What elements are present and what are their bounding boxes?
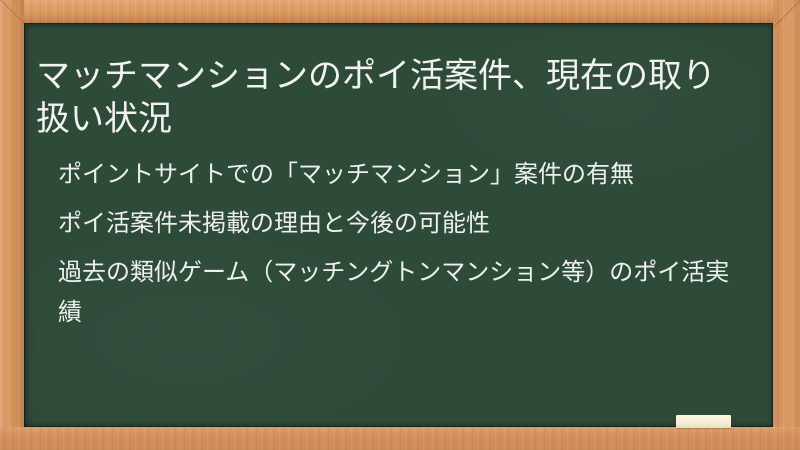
chalkboard-slide: マッチマンションのポイ活案件、現在の取り扱い状況 ポイントサイトでの「マッチマン… bbox=[0, 0, 800, 450]
chalk-ledge bbox=[0, 427, 800, 450]
frame-left bbox=[0, 0, 24, 450]
chalkboard-surface: マッチマンションのポイ活案件、現在の取り扱い状況 ポイントサイトでの「マッチマン… bbox=[24, 23, 773, 427]
chalk-stick-icon bbox=[676, 415, 731, 428]
slide-title: マッチマンションのポイ活案件、現在の取り扱い状況 bbox=[36, 55, 748, 141]
bullet-item: 過去の類似ゲーム（マッチングトンマンション等）のポイ活実績 bbox=[58, 253, 734, 333]
bullet-item: ポイ活案件未掲載の理由と今後の可能性 bbox=[58, 204, 734, 244]
bullet-list: ポイントサイトでの「マッチマンション」案件の有無 ポイ活案件未掲載の理由と今後の… bbox=[58, 155, 734, 333]
frame-top bbox=[0, 0, 800, 23]
frame-right bbox=[773, 0, 800, 450]
bullet-item: ポイントサイトでの「マッチマンション」案件の有無 bbox=[58, 155, 734, 195]
